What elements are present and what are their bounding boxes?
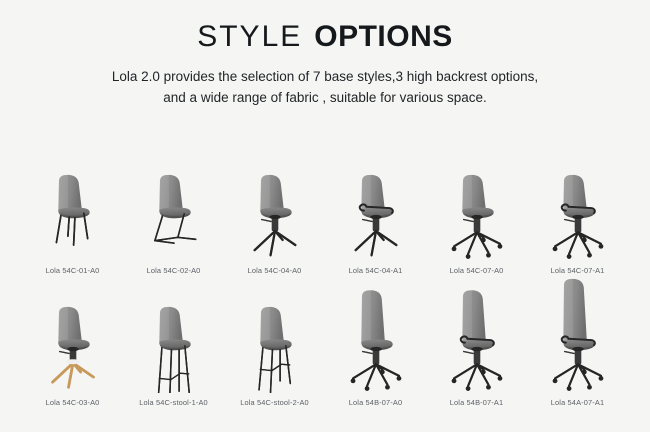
- chair-highback-caster-arms-icon: [528, 275, 628, 393]
- chair-sled-icon: [124, 143, 224, 261]
- chair-five-caster-arms-icon: [528, 143, 628, 261]
- title-style-word: STYLE: [197, 20, 302, 53]
- title-options-word: OPTIONS: [314, 20, 453, 53]
- product-cell[interactable]: Lola 54C-stool-1-A0: [123, 275, 224, 408]
- product-label: Lola 54C-04-A1: [349, 261, 403, 275]
- product-label: Lola 54C-02-A0: [147, 261, 201, 275]
- chair-four-leg-icon: [23, 143, 123, 261]
- page-subtitle: Lola 2.0 provides the selection of 7 bas…: [0, 67, 650, 109]
- product-label: Lola 54C-stool-2-A0: [240, 393, 309, 408]
- chair-wood-star-icon: [23, 275, 123, 393]
- style-options-page: STYLEOPTIONS Lola 2.0 provides the selec…: [0, 0, 650, 432]
- stool-low-icon: [225, 275, 325, 393]
- product-cell[interactable]: Lola 54B-07-A0: [325, 275, 426, 408]
- product-label: Lola 54A-07-A1: [551, 393, 604, 408]
- product-cell[interactable]: Lola 54C-01-A0: [22, 150, 123, 275]
- chair-four-star-icon: [225, 143, 325, 261]
- product-cell[interactable]: Lola 54C-07-A0: [426, 150, 527, 275]
- chair-midback-caster-arms-icon: [427, 275, 527, 393]
- product-label: Lola 54C-07-A0: [450, 261, 504, 275]
- product-cell[interactable]: Lola 54C-stool-2-A0: [224, 275, 325, 408]
- product-row-2: Lola 54C-03-A0 Lola 54C-stool-1-A0 Lola …: [22, 275, 628, 408]
- product-cell[interactable]: Lola 54C-07-A1: [527, 150, 628, 275]
- product-cell[interactable]: Lola 54C-04-A0: [224, 150, 325, 275]
- subtitle-line-1: Lola 2.0 provides the selection of 7 bas…: [0, 67, 650, 88]
- product-label: Lola 54B-07-A1: [450, 393, 503, 408]
- page-header: STYLEOPTIONS Lola 2.0 provides the selec…: [0, 0, 650, 109]
- product-label: Lola 54C-07-A1: [551, 261, 605, 275]
- chair-four-star-arms-icon: [326, 143, 426, 261]
- product-label: Lola 54C-01-A0: [46, 261, 100, 275]
- product-cell[interactable]: Lola 54B-07-A1: [426, 275, 527, 408]
- product-cell[interactable]: Lola 54A-07-A1: [527, 275, 628, 408]
- product-cell[interactable]: Lola 54C-04-A1: [325, 150, 426, 275]
- stool-high-icon: [124, 275, 224, 393]
- chair-five-caster-icon: [427, 143, 527, 261]
- product-label: Lola 54B-07-A0: [349, 393, 402, 408]
- subtitle-line-2: and a wide range of fabric , suitable fo…: [0, 88, 650, 109]
- chair-midback-caster-icon: [326, 275, 426, 393]
- product-label: Lola 54C-04-A0: [248, 261, 302, 275]
- product-label: Lola 54C-03-A0: [46, 393, 100, 408]
- product-grid: Lola 54C-01-A0 Lola 54C-02-A0 Lola 54C-0…: [22, 150, 628, 408]
- product-row-1: Lola 54C-01-A0 Lola 54C-02-A0 Lola 54C-0…: [22, 150, 628, 275]
- product-cell[interactable]: Lola 54C-02-A0: [123, 150, 224, 275]
- product-cell[interactable]: Lola 54C-03-A0: [22, 275, 123, 408]
- page-title: STYLEOPTIONS: [0, 22, 650, 52]
- product-label: Lola 54C-stool-1-A0: [139, 393, 208, 408]
